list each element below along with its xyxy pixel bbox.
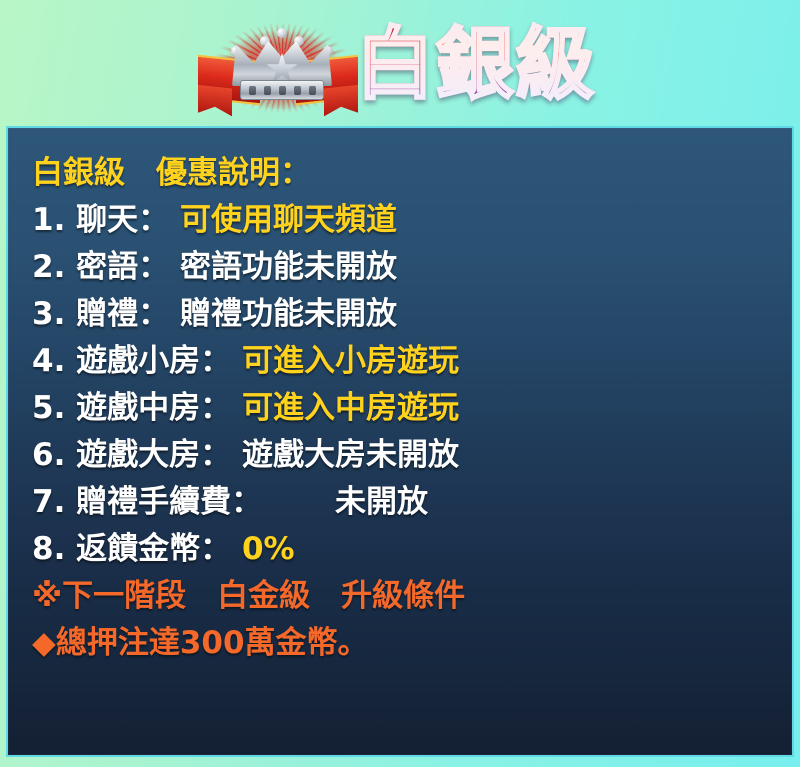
benefit-row: 7. 贈禮手續費： 未開放 — [32, 479, 776, 526]
benefit-label: 贈禮： — [65, 296, 169, 332]
upgrade-notes: ※下一階段 白金級 升級條件◆總押注達300萬金幣。 — [32, 573, 776, 667]
benefit-value: 未開放 — [262, 484, 428, 520]
note-marker-icon: ※ — [32, 578, 62, 614]
benefit-label: 贈禮手續費： — [65, 484, 262, 520]
benefit-label: 遊戲中房： — [65, 390, 231, 426]
vip-tier-info-screen: 白銀級 白銀級 優惠說明： 1. 聊天： 可使用聊天頻道2. 密語： 密語功能未… — [0, 0, 800, 767]
benefit-index: 5. — [32, 390, 65, 426]
section-title: 白銀級 優惠說明： — [32, 150, 776, 197]
benefit-label: 遊戲大房： — [65, 437, 231, 473]
upgrade-note: ※下一階段 白金級 升級條件 — [32, 573, 776, 620]
note-marker-icon: ◆ — [32, 625, 56, 661]
benefits-list: 1. 聊天： 可使用聊天頻道2. 密語： 密語功能未開放3. 贈禮： 贈禮功能未… — [32, 197, 776, 573]
panel-content: 白銀級 優惠說明： 1. 聊天： 可使用聊天頻道2. 密語： 密語功能未開放3.… — [32, 150, 776, 667]
benefit-value: 可進入中房遊玩 — [231, 390, 459, 426]
benefit-row: 3. 贈禮： 贈禮功能未開放 — [32, 291, 776, 338]
crown-band — [240, 80, 324, 100]
benefit-index: 1. — [32, 202, 65, 238]
benefit-index: 2. — [32, 249, 65, 285]
benefit-row: 4. 遊戲小房： 可進入小房遊玩 — [32, 338, 776, 385]
benefit-value: 可使用聊天頻道 — [169, 202, 397, 238]
benefit-value: 0% — [231, 531, 294, 567]
crown-gem — [294, 86, 301, 95]
crown-icon — [232, 28, 332, 106]
benefit-index: 7. — [32, 484, 65, 520]
upgrade-note: ◆總押注達300萬金幣。 — [32, 620, 776, 667]
crown-gem — [309, 86, 316, 95]
crown-gem — [249, 86, 256, 95]
benefit-value: 遊戲大房未開放 — [231, 437, 459, 473]
benefit-value: 可進入小房遊玩 — [231, 343, 459, 379]
benefit-index: 3. — [32, 296, 65, 332]
benefit-row: 2. 密語： 密語功能未開放 — [32, 244, 776, 291]
note-text: 總押注達300萬金幣。 — [56, 625, 369, 661]
silver-crown-with-star-and-ribbon-icon — [186, 10, 376, 122]
benefit-row: 6. 遊戲大房： 遊戲大房未開放 — [32, 432, 776, 479]
banner-header: 白銀級 — [0, 0, 800, 124]
benefit-value: 密語功能未開放 — [169, 249, 397, 285]
benefit-row: 1. 聊天： 可使用聊天頻道 — [32, 197, 776, 244]
tier-benefits-panel: 白銀級 優惠說明： 1. 聊天： 可使用聊天頻道2. 密語： 密語功能未開放3.… — [6, 126, 794, 757]
benefit-index: 4. — [32, 343, 65, 379]
benefit-index: 8. — [32, 531, 65, 567]
page-title: 白銀級 — [356, 23, 596, 107]
crown-tip-center — [277, 28, 287, 38]
crown-gem — [279, 86, 286, 95]
benefit-label: 密語： — [65, 249, 169, 285]
note-text: 下一階段 白金級 升級條件 — [62, 578, 465, 614]
benefit-label: 聊天： — [65, 202, 169, 238]
benefit-row: 8. 返饋金幣： 0% — [32, 526, 776, 573]
benefit-label: 返饋金幣： — [65, 531, 231, 567]
benefit-label: 遊戲小房： — [65, 343, 231, 379]
benefit-index: 6. — [32, 437, 65, 473]
benefit-value: 贈禮功能未開放 — [169, 296, 397, 332]
crown-gem — [264, 86, 271, 95]
benefit-row: 5. 遊戲中房： 可進入中房遊玩 — [32, 385, 776, 432]
